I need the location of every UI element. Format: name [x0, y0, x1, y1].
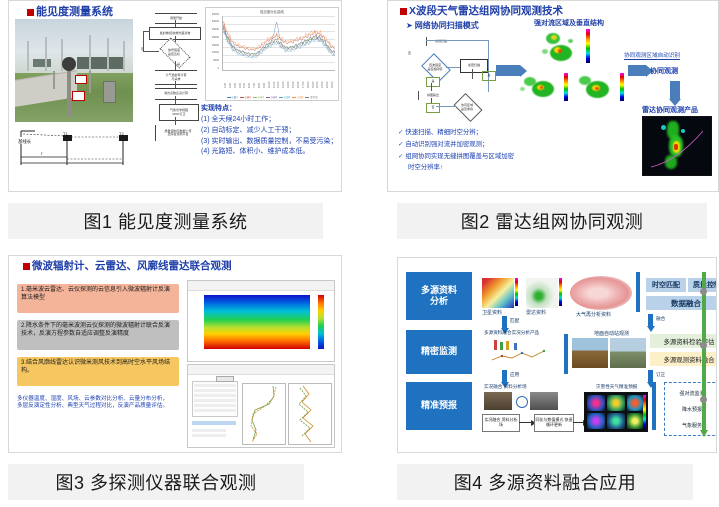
arrow-label-2: 融合 [656, 316, 665, 322]
radar-label-mid: 协同观测区域自动识别 [624, 51, 680, 60]
flow-arrow-down [670, 81, 680, 99]
x-tick-label: 19:00 [312, 82, 315, 89]
window-button[interactable] [216, 376, 234, 382]
ground-station-photo-1 [572, 338, 608, 368]
slide2-title: X波段天气雷达组网协同观测技术 [400, 3, 563, 18]
visibility-line-chart: 能见度对比曲线 35000300002500020000150001000050… [205, 7, 339, 101]
slide3-title: 微波辐射计、云雷达、风廓线雷达联合观测 [23, 258, 232, 273]
x-tick-label: 6:00 [248, 83, 251, 88]
disaster-photo-1 [484, 392, 512, 410]
x-tick-label: 1:00 [224, 83, 227, 88]
feature-header: 实现特点： [201, 104, 339, 115]
mid-label: 多源资料融合实况分析产品 [484, 330, 539, 336]
red-square-bullet-icon [400, 8, 407, 15]
x-tick-label: 12:00 [277, 82, 280, 89]
radar-image-1 [538, 29, 584, 67]
callout-3: 3.结合风廓线雷达认识微米测风技术到高时空水平风场结构。 [17, 357, 179, 386]
feature-list: 实现特点： (1) 全天候24小时工作； (2) 自动标定、减少人工干预； (3… [201, 104, 339, 158]
analysis-notes: 多仪器温度、湿度、风场、云参数对比分析、云量分布分析， 多层反演定性分析、典型天… [17, 396, 181, 411]
figure-3-slide: 微波辐射计、云雷达、风廓线雷达联合观测 1.毫米波云雷达、云仪探测的云信息引入微… [8, 255, 342, 453]
bottom-box-1: 实况融合 资料分析场 [482, 414, 520, 432]
x-tick-label: 17:00 [302, 82, 305, 89]
x-tick-label: 11:00 [273, 82, 276, 88]
feature-item: (3) 实时输出、数据质量控制，不易受污染； [201, 137, 339, 148]
arrow-label-4: 订正 [656, 372, 665, 378]
application-dash-box: 强对流监测 降水预报 气象服务 [664, 382, 717, 436]
feature-item: (2) 自动标定、减少人工干预； [201, 126, 339, 137]
stage-connector-1 [636, 272, 640, 312]
down-arrow-2 [648, 314, 653, 326]
x-tick-label: 7:00 [253, 83, 256, 88]
down-arrow-4 [648, 370, 653, 382]
figure-3: 微波辐射计、云雷达、风廓线雷达联合观测 1.毫米波云雷达、云仪探测的云信息引入微… [0, 255, 350, 507]
svg-text:T1: T1 [63, 131, 68, 136]
timeline-dot [700, 288, 707, 295]
flow-arrow-right-1 [496, 65, 520, 76]
figure-4-caption: 图4 多源资料融合应用 [397, 464, 693, 500]
x-tick-label: 2:00 [229, 83, 232, 88]
image-label-3: 大气再分析资料 [576, 311, 611, 318]
forecast-grid-image [584, 392, 648, 432]
radar-label-sync: 协同观测 [650, 66, 678, 76]
field-photo [15, 19, 133, 122]
ground-station-photo-2 [610, 338, 646, 368]
slide2-subhead: ➤网络协同扫描模式 [406, 20, 479, 31]
figure-1-slide: 能见度测量系统 [8, 0, 342, 192]
analysis-note-line: 多层反演定性分析、典型天气过程对比，反演产品质量评估。 [17, 403, 181, 410]
figure-1-caption: 图1 能见度测量系统 [8, 203, 323, 239]
legend-item: 仪器4 [266, 95, 277, 99]
flow-arrow-right-2 [628, 65, 646, 76]
x-tick-label: 20:00 [316, 82, 319, 89]
figure-4-slide: 多源资料 分析 精密监测 精准预报 卫星资料 雷达资料 大气再分析资料 时空匹配… [397, 257, 717, 453]
radar-image-label-top: 强对流区域及垂直结构 [534, 18, 604, 28]
stage-connector-2 [564, 334, 568, 374]
image-label-4: 地面自动站观测 [594, 330, 629, 337]
y-tick-label: 10000 [212, 51, 219, 54]
radar-data-image [526, 278, 558, 308]
profile-plot-left [242, 383, 286, 445]
radar-bullet: 自动识别强对流并加密观测； [398, 139, 628, 148]
image-label-1: 卫星资料 [482, 309, 502, 316]
y-tick-label: 0 [218, 67, 219, 70]
x-tick-label: 18:00 [307, 82, 310, 89]
x-tick-label: 14:00 [287, 82, 290, 89]
figure-grid: 能见度测量系统 [0, 0, 719, 507]
x-tick-label: 3:00 [234, 83, 237, 88]
x-tick-label: 15:00 [292, 82, 295, 89]
x-tick-label: 8:00 [258, 83, 261, 88]
legend-item: 仪器6 [292, 95, 303, 99]
satellite-data-image [482, 278, 514, 308]
legend-item: 参考值 [305, 95, 317, 99]
right-box-2: 多源观测资料融合 [650, 352, 717, 366]
figure-3-caption: 图3 多探测仪器联合观测 [8, 464, 304, 500]
figure-2-slide: X波段天气雷达组网协同观测技术 ➤网络协同扫描模式 常规扫描 否 回波强度是否超… [387, 0, 719, 192]
radar-bullet: 组网协同实现无缝拼图覆盖与区域加密 [398, 151, 628, 160]
x-tick-label: 9:00 [263, 83, 266, 88]
slide1-title: 能见度测量系统 [27, 3, 113, 19]
y-tick-label: 35000 [212, 13, 219, 16]
legend-item: 仪器5 [279, 95, 290, 99]
legend-item: 仪器3 [253, 95, 264, 99]
y-tick-label: 15000 [212, 44, 219, 47]
y-tick-label: 5000 [213, 59, 219, 62]
dash-item: 降水预报 [682, 406, 702, 413]
process-box-1: 时空匹配 [646, 278, 686, 292]
chart-plot-area [222, 16, 335, 71]
right-arrow-2 [573, 422, 583, 423]
timeline-dot [700, 396, 707, 403]
x-tick-label: 10:00 [268, 82, 271, 89]
radar-image-3 [574, 71, 618, 105]
figure-4: 多源资料 分析 精密监测 精准预报 卫星资料 雷达资料 大气再分析资料 时空匹配… [385, 255, 719, 507]
dash-item: 气象服务 [682, 422, 702, 429]
figure-1: 能见度测量系统 [0, 0, 350, 240]
reanalysis-data-image [570, 276, 632, 310]
x-tick-label: 23:00 [331, 82, 334, 89]
x-tick-label: 13:00 [282, 82, 285, 89]
radar-label-bottom: 雷达协同观测产品 [642, 105, 698, 115]
down-arrow-1 [502, 316, 507, 328]
image-label-2: 雷达资料 [526, 309, 546, 316]
fusion-scatter-image [488, 338, 554, 366]
x-tick-label: 21:00 [321, 82, 324, 89]
y-tick-label: 25000 [212, 28, 219, 31]
chevron-right-icon: ➤ [406, 21, 413, 30]
x-tick-label: 22:00 [326, 82, 329, 89]
x-tick-label: 16:00 [297, 82, 300, 89]
x-tick-label: 4:00 [239, 83, 242, 88]
y-tick-label: 30000 [212, 20, 219, 23]
figure-2: X波段天气雷达组网协同观测技术 ➤网络协同扫描模式 常规扫描 否 回波强度是否超… [385, 0, 719, 240]
window-titlebar [188, 365, 334, 375]
radar-composite-image [642, 116, 712, 176]
callout-2: 2.降水条件下的毫米波测云仪探测的微波辐射计联合反演技术，反演方程参数自适应调整… [17, 320, 179, 350]
arrow-label-3: 应用 [510, 372, 519, 378]
red-square-bullet-icon [23, 263, 30, 270]
window-titlebar [188, 281, 334, 291]
profile-plot-right [288, 383, 332, 445]
bottom-label-left: 实况融合 资料分析场 [484, 384, 527, 390]
circle-marker-icon [516, 396, 528, 408]
radar-bullet: 快速扫描、精细时空分辨； [398, 127, 628, 136]
red-square-bullet-icon [27, 9, 34, 16]
bottom-label-right: 灾害性天气精准预报 [596, 384, 637, 390]
stage-box-2: 精密监测 [406, 330, 472, 374]
stage-box-1: 多源资料 分析 [406, 272, 472, 320]
right-arrow-1 [519, 422, 531, 423]
legend-item: 仪器2 [240, 95, 251, 99]
down-arrow-3 [502, 370, 507, 382]
svg-text:基线长: 基线长 [18, 138, 32, 145]
figure-2-caption: 图2 雷达组网协同观测 [397, 203, 707, 239]
y-tick-label: 20000 [212, 36, 219, 39]
measurement-flowchart: 测量开始 发射端/接收端光路对准 信号强度是否达标 否 是 大气透射率计算与采样… [141, 7, 199, 187]
bottom-box-2: 同化与数值模式 快速循环更新 [534, 414, 574, 432]
radar-subnote: 时空分辨率↑ [398, 162, 628, 171]
feature-item: (4) 光路短、体积小、维护成本低。 [201, 147, 339, 158]
arrow-label-1: 匹配 [510, 318, 519, 324]
svg-text:r: r [41, 151, 43, 156]
chart-legend: 仪器1仪器2仪器3仪器4仪器5仪器6参考值 [206, 95, 338, 99]
legend-item: 仪器1 [227, 95, 238, 99]
profile-window [187, 364, 335, 448]
x-tick-label: 5:00 [243, 83, 246, 88]
heatmap-window [187, 280, 335, 362]
process-box-3: 数据融合 [646, 296, 717, 310]
radar-scan-flowchart: 常规扫描 否 回波强度是否超阈值 加密扫描 是 是 拼图输出 否 协同区域是否重… [406, 33, 506, 123]
feature-item: (1) 全天候24小时工作； [201, 115, 339, 126]
chart-title: 能见度对比曲线 [206, 9, 338, 14]
svg-text:T2: T2 [119, 131, 124, 136]
stage-connector-3 [652, 382, 656, 430]
callout-1: 1.毫米波云雷达、云仪探测的云信息引入微波辐射计反演算法模型 [17, 284, 179, 313]
baseline-schematic: 基线长 r T1 T2 [15, 127, 137, 171]
stage-box-3: 精准预报 [406, 382, 472, 430]
timeline-arrow [702, 272, 706, 430]
timeline-dot [700, 342, 707, 349]
variable-list[interactable] [192, 381, 238, 417]
disaster-photo-2 [530, 392, 558, 410]
dash-item: 强对流监测 [679, 390, 704, 397]
